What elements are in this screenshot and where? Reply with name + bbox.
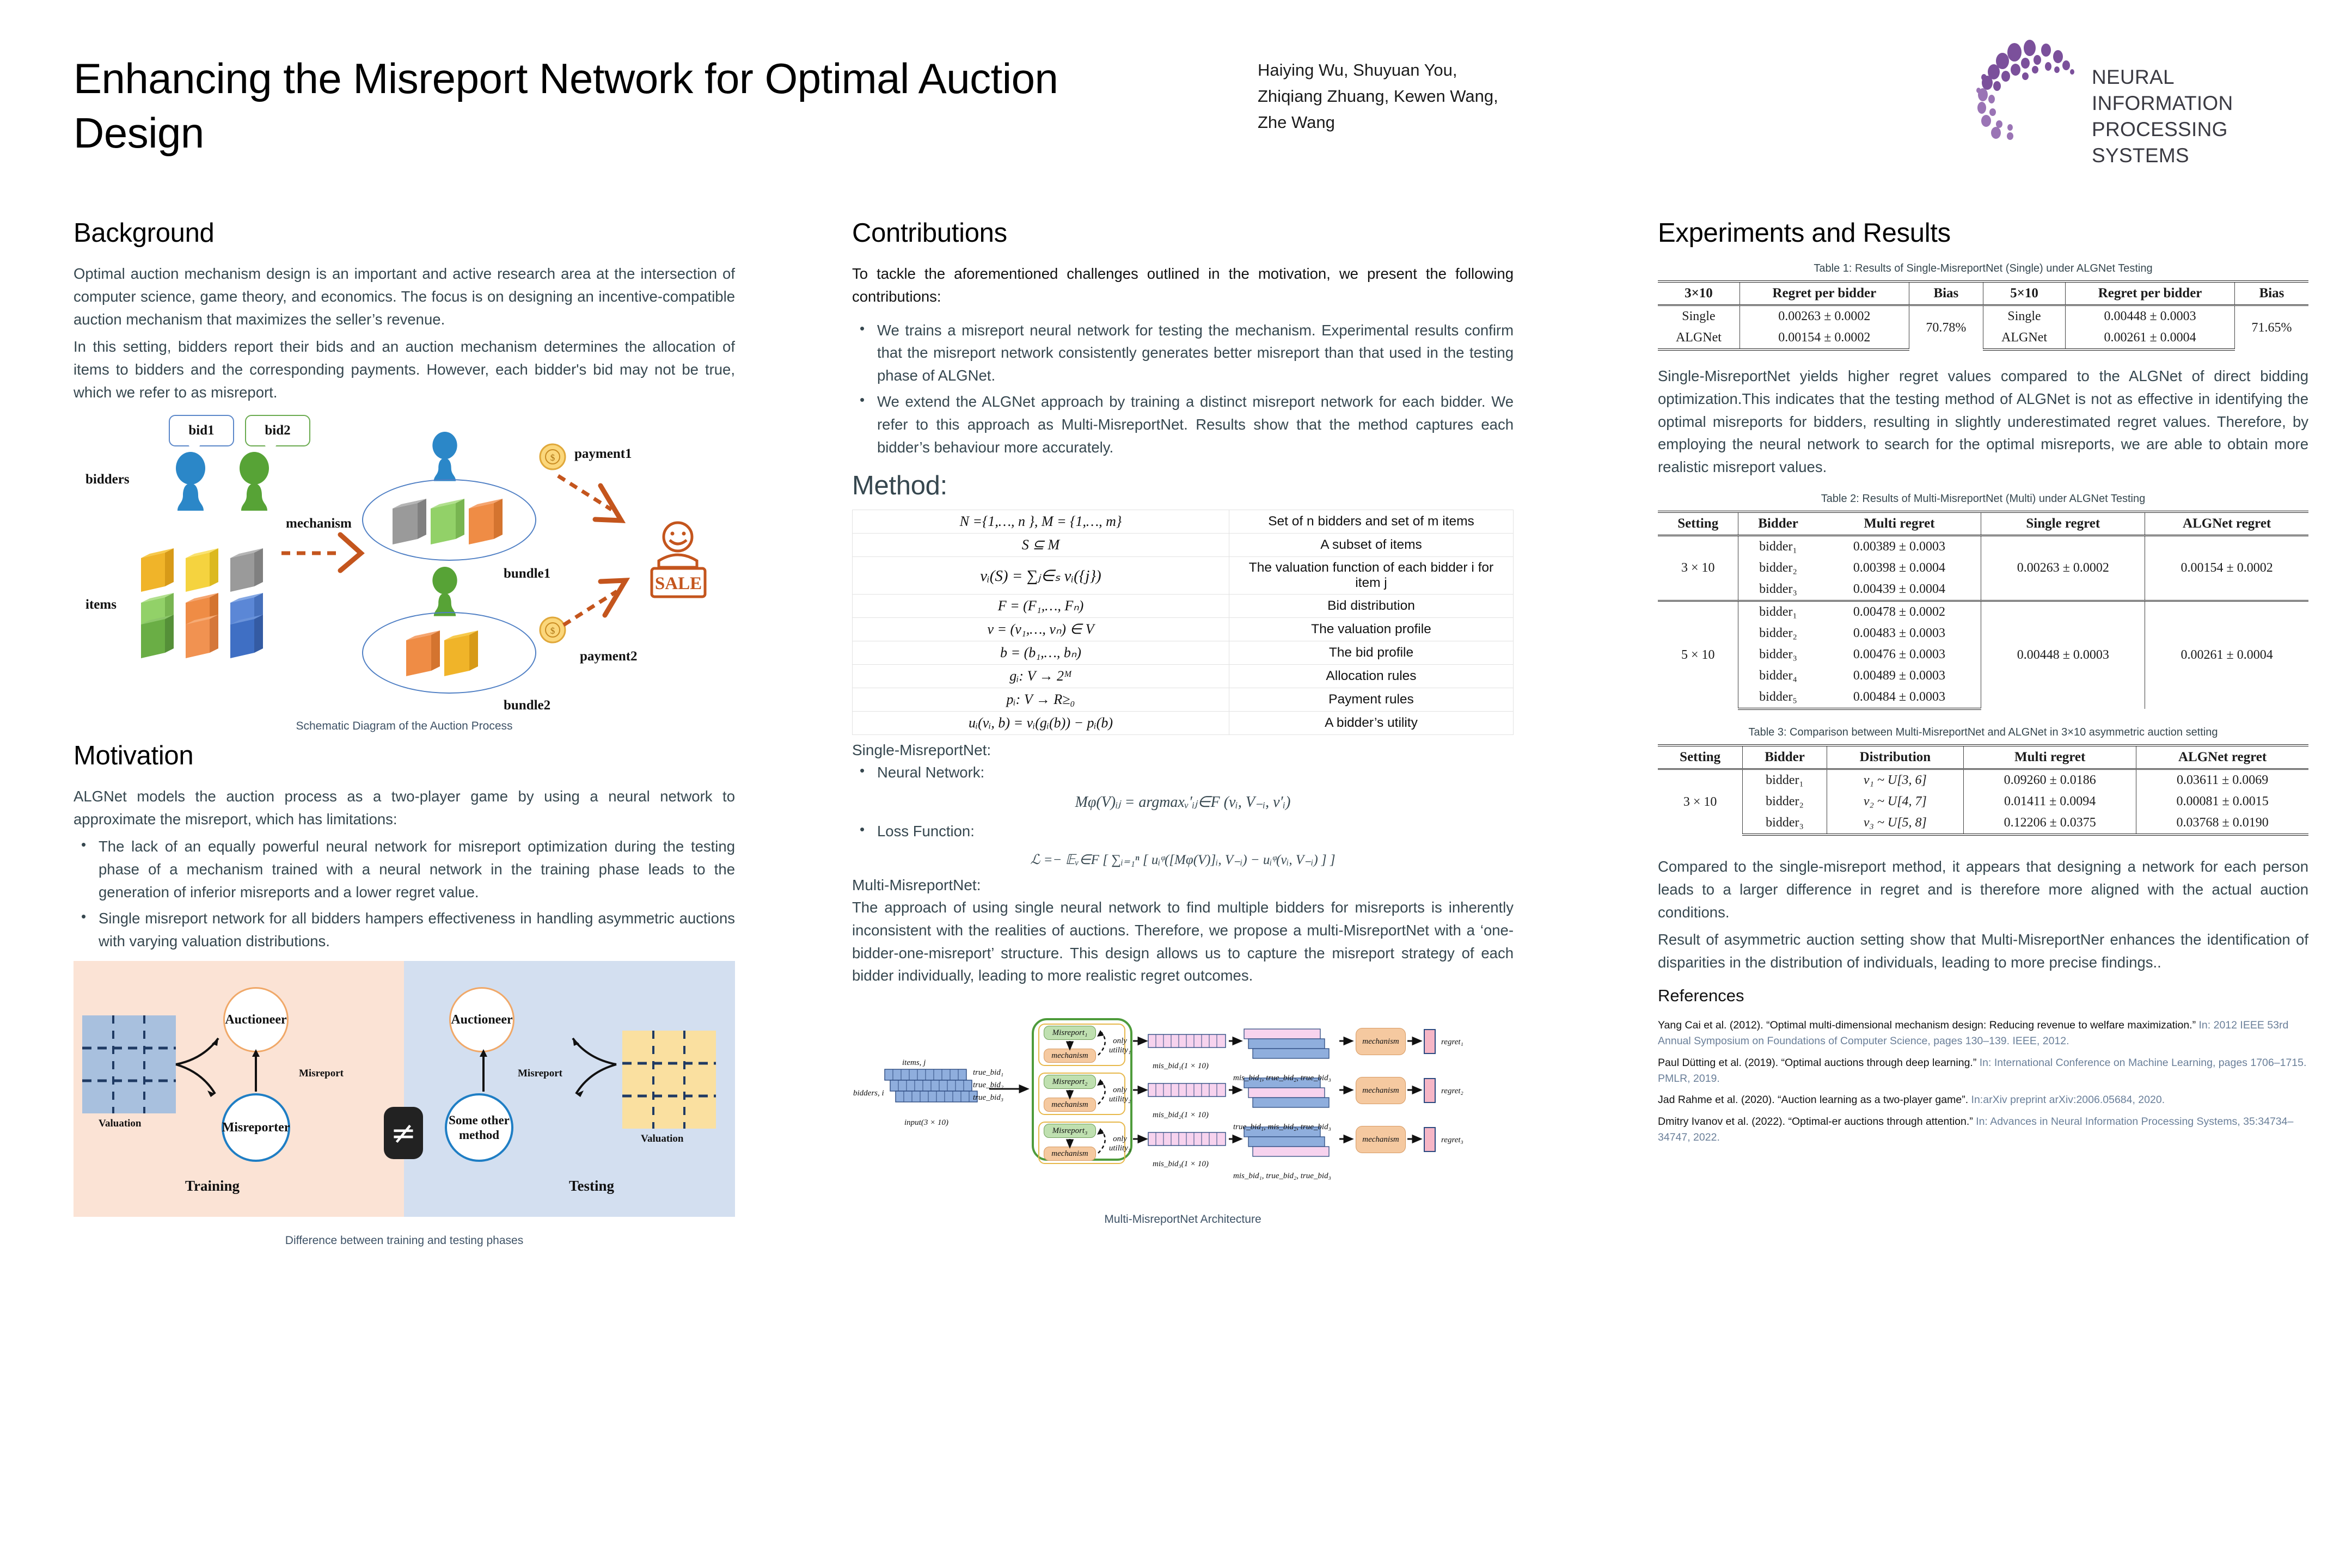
multi-regret-value: 0.00484 ± 0.0003 xyxy=(1818,687,1981,709)
table-row: gᵢ: V → 2ᴹ Allocation rules xyxy=(853,665,1514,688)
table-row: pᵢ: V → R≥₀ Payment rules xyxy=(853,688,1514,712)
setting-value: 3 × 10 xyxy=(1658,535,1738,601)
svg-text:$: $ xyxy=(550,452,555,463)
only-utility3-label: only utility₃ xyxy=(1104,1135,1136,1153)
col-5x10: 5×10 xyxy=(1983,281,2065,305)
table-row: N ={1,…, n }, M = {1,…, m} Set of n bidd… xyxy=(853,510,1514,534)
bidder-name: bidder₃ xyxy=(1743,812,1827,835)
multi-misreportnet-text: The approach of using single neural netw… xyxy=(852,896,1514,987)
only-utility2-label: only utility₂ xyxy=(1104,1086,1136,1104)
valuation-grid-training-icon xyxy=(82,1015,176,1113)
table-row: vᵢ(S) = ∑ⱼ∈ₛ vᵢ({j}) The valuation funct… xyxy=(853,557,1514,595)
reference-item: Paul Dütting et al. (2019). “Optimal auc… xyxy=(1658,1055,2308,1087)
regret3-label: regret₃ xyxy=(1441,1136,1463,1145)
table-row: uᵢ(vᵢ, b) = vᵢ(gᵢ(b)) − pᵢ(b) A bidder’s… xyxy=(853,712,1514,735)
regret-value: 0.00263 ± 0.0002 xyxy=(1739,305,1909,328)
multi-regret-value: 0.00389 ± 0.0003 xyxy=(1818,535,1981,558)
table-row: 3 × 10 bidder₁ 0.00389 ± 0.0003 0.00263 … xyxy=(1658,535,2308,558)
algnet-regret-value: 0.00081 ± 0.0015 xyxy=(2136,791,2308,812)
winner1-icon xyxy=(422,431,468,483)
table-row: Single 0.00263 ± 0.0002 70.78% Single 0.… xyxy=(1658,305,2308,328)
mechanism-arrow-icon xyxy=(279,530,366,574)
algnet-regret-value: 0.03611 ± 0.0069 xyxy=(2136,769,2308,791)
items-grid-icon xyxy=(138,543,274,660)
single-misreportnet-list: Neural Network: xyxy=(852,761,1514,784)
loss-function-label: Loss Function: xyxy=(852,820,1514,843)
multi-regret-value: 0.00476 ± 0.0003 xyxy=(1818,644,1981,665)
notation-symbol: b = (b₁,…, bₙ) xyxy=(853,641,1229,665)
combined-bids-icon xyxy=(1239,1025,1337,1177)
reference-item: Yang Cai et al. (2012). “Optimal multi-d… xyxy=(1658,1018,2308,1049)
bidder-name: bidder₁ xyxy=(1743,769,1827,791)
reference-title: Jad Rahme et al. (2020). “Auction learni… xyxy=(1658,1094,1971,1106)
table-row: ALGNet 0.00154 ± 0.0002 ALGNet 0.00261 ±… xyxy=(1658,327,2308,350)
training-caption: Training xyxy=(185,1178,240,1195)
motivation-heading: Motivation xyxy=(73,740,735,771)
page-title: Enhancing the Misreport Network for Opti… xyxy=(73,52,1108,161)
bidder-name: bidder₁ xyxy=(1738,601,1818,623)
notation-symbol: S ⊆ M xyxy=(853,534,1229,557)
distribution-value: v₃ ~ U[5, 8] xyxy=(1827,812,1963,835)
regret1-label: regret₁ xyxy=(1441,1038,1463,1047)
table-row: F = (F₁,…, Fₙ) Bid distribution xyxy=(853,595,1514,618)
bidder-name: bidder₃ xyxy=(1738,644,1818,665)
author-list: Haiying Wu, Shuyuan You, Zhiqiang Zhuang… xyxy=(1258,57,1595,136)
contributions-intro: To tackle the aforementioned challenges … xyxy=(852,262,1514,308)
misreport2-box: Misreport₂ xyxy=(1044,1075,1096,1089)
multi-regret-value: 0.00439 ± 0.0004 xyxy=(1818,579,1981,601)
list-item: The lack of an equally powerful neural n… xyxy=(73,835,735,903)
multi-regret-value: 0.00483 ± 0.0003 xyxy=(1818,623,1981,644)
author-line-3: Zhe Wang xyxy=(1258,109,1595,136)
method-heading: Method: xyxy=(852,470,1514,501)
notation-desc: Allocation rules xyxy=(1229,665,1513,688)
bidder-name: bidder₅ xyxy=(1738,687,1818,709)
bias-value-left: 70.78% xyxy=(1909,305,1983,350)
training-testing-figure: Valuation Auctioneer Misreporter Misrepo… xyxy=(73,961,735,1249)
bundle2-label: bundle2 xyxy=(504,698,550,713)
combo2-label: true_bid₁, mis_bid₂, true_bid₃ xyxy=(1233,1123,1331,1132)
table-row: 3 × 10 bidder₁ v₁ ~ U[3, 6] 0.09260 ± 0.… xyxy=(1658,769,2308,791)
input-stack-icon xyxy=(880,1068,984,1111)
table-row: bidder₂ v₂ ~ U[4, 7] 0.01411 ± 0.0094 0.… xyxy=(1658,791,2308,812)
table-row: S ⊆ M A subset of items xyxy=(853,534,1514,557)
regret1-box xyxy=(1424,1029,1436,1054)
multi-regret-value: 0.00398 ± 0.0004 xyxy=(1818,558,1981,579)
notation-symbol: pᵢ: V → R≥₀ xyxy=(853,688,1229,712)
background-heading: Background xyxy=(73,218,735,248)
valuation-label-training: Valuation xyxy=(99,1118,142,1130)
regret2-label: regret₂ xyxy=(1441,1087,1463,1096)
table-row: 5 × 10 bidder₁ 0.00478 ± 0.0002 0.00448 … xyxy=(1658,601,2308,623)
input-shape-label: input(3 × 10) xyxy=(904,1118,948,1128)
misreport1-box: Misreport₁ xyxy=(1044,1026,1096,1040)
col-single-regret: Single regret xyxy=(1981,512,2145,536)
contributions-bullet-list: We trains a misreport neural network for… xyxy=(852,319,1514,459)
notation-table: N ={1,…, n }, M = {1,…, m} Set of n bidd… xyxy=(852,510,1514,735)
author-line-2: Zhiqiang Zhuang, Kewen Wang, xyxy=(1258,83,1595,109)
reference-title: Dmitry Ivanov et al. (2022). “Optimal-er… xyxy=(1658,1116,1976,1128)
true-bid2-label: true_bid₂ xyxy=(973,1081,1003,1090)
multi-regret-value: 0.09260 ± 0.0186 xyxy=(1964,769,2136,791)
notation-desc: The valuation profile xyxy=(1229,618,1513,641)
multi-regret-value: 0.01411 ± 0.0094 xyxy=(1964,791,2136,812)
notation-symbol: gᵢ: V → 2ᴹ xyxy=(853,665,1229,688)
only-utility1-label: only utility₁ xyxy=(1104,1037,1136,1055)
col-bidder: Bidder xyxy=(1743,745,1827,769)
bias-value-right: 71.65% xyxy=(2235,305,2309,350)
regret-value: 0.00154 ± 0.0002 xyxy=(1739,327,1909,350)
sale-text: SALE xyxy=(655,574,702,593)
col-bias-left: Bias xyxy=(1909,281,1983,305)
single-regret-value: 0.00448 ± 0.0003 xyxy=(1981,601,2145,709)
items-axis-label: items, j xyxy=(902,1058,926,1068)
mechanism-box-2: mechanism xyxy=(1044,1098,1096,1112)
payment2-arrow-icon xyxy=(558,573,645,633)
author-line-1: Haiying Wu, Shuyuan You, xyxy=(1258,57,1595,83)
algnet-regret-value: 0.03768 ± 0.0190 xyxy=(2136,812,2308,835)
col-algnet-regret: ALGNet regret xyxy=(2145,512,2308,536)
notation-symbol: F = (F₁,…, Fₙ) xyxy=(853,595,1229,618)
mis-bid3-label: mis_bid₃(1 × 10) xyxy=(1153,1160,1209,1169)
table3-caption: Table 3: Comparison between Multi-Misrep… xyxy=(1658,726,2308,739)
bidder1-icon xyxy=(163,452,218,513)
multi-misreportnet-title: Multi-MisreportNet: xyxy=(852,877,1514,894)
misbid-bars-icon xyxy=(1146,1025,1228,1172)
setting-value: 5 × 10 xyxy=(1658,601,1738,709)
list-item: Single misreport network for all bidders… xyxy=(73,907,735,953)
mis-bid2-label: mis_bid₂(1 × 10) xyxy=(1153,1111,1209,1120)
col-multi-regret: Multi regret xyxy=(1818,512,1981,536)
notation-desc: The valuation function of each bidder i … xyxy=(1229,557,1513,595)
coin1-icon: $ xyxy=(539,443,566,470)
references-heading: References xyxy=(1658,986,2308,1006)
payment1-arrow-icon xyxy=(553,470,640,530)
regret-value-2: 0.00261 ± 0.0004 xyxy=(2066,327,2235,350)
bundle1-items-icon xyxy=(389,497,509,548)
logo-line-2: PROCESSING SYSTEMS xyxy=(2092,117,2319,169)
method-name-2: Single xyxy=(1983,305,2065,328)
items-label: items xyxy=(85,597,117,612)
auction-schematic-figure: bid1 bid2 bidders items xyxy=(73,409,735,736)
experiments-paragraph-1: Single-MisreportNet yields higher regret… xyxy=(1658,365,2308,479)
mechanism-box-3: mechanism xyxy=(1044,1147,1096,1161)
neurips-logo: NEURAL INFORMATION PROCESSING SYSTEMS xyxy=(1971,38,2319,142)
reference-title: Paul Dütting et al. (2019). “Optimal auc… xyxy=(1658,1057,1980,1069)
col-3x10: 3×10 xyxy=(1658,281,1739,305)
neurips-logo-icon xyxy=(1971,38,2085,142)
notation-desc: A bidder’s utility xyxy=(1229,712,1513,735)
loss-function-formula: ℒ =− 𝔼ᵥ∈F [ ∑ᵢ₌₁ⁿ [ uᵢᵠ([Mφ(V)]ᵢ, V₋ᵢ) −… xyxy=(852,852,1514,868)
testing-arrows-icon xyxy=(474,1004,626,1146)
sale-seller-icon: SALE xyxy=(640,518,716,605)
table1-caption: Table 1: Results of Single-MisreportNet … xyxy=(1658,262,2308,275)
bidders-axis-label: bidders, i xyxy=(853,1089,884,1098)
combo1-label: mis_bid₁, true_bid₂, true_bid₃ xyxy=(1233,1074,1331,1083)
col-regret-right: Regret per bidder xyxy=(2066,281,2235,305)
table-row: bidder₃ v₃ ~ U[5, 8] 0.12206 ± 0.0375 0.… xyxy=(1658,812,2308,835)
regret-value-2: 0.00448 ± 0.0003 xyxy=(2066,305,2235,328)
table-row: v = (v₁,…, vₙ) ∈ V The valuation profile xyxy=(853,618,1514,641)
notation-symbol: N ={1,…, n }, M = {1,…, m} xyxy=(853,510,1229,534)
bidder-name: bidder₂ xyxy=(1738,558,1818,579)
auction-figure-caption: Schematic Diagram of the Auction Process xyxy=(73,720,735,733)
reference-item: Dmitry Ivanov et al. (2022). “Optimal-er… xyxy=(1658,1114,2308,1146)
method-name: ALGNet xyxy=(1658,327,1739,350)
true-bid1-label: true_bid₁ xyxy=(973,1068,1003,1077)
table1: 3×10 Regret per bidder Bias 5×10 Regret … xyxy=(1658,280,2308,351)
bid2-bubble: bid2 xyxy=(245,415,310,446)
bidder-name: bidder₂ xyxy=(1743,791,1827,812)
not-equal-badge: ≠ xyxy=(384,1107,423,1159)
mechanism-label: mechanism xyxy=(286,516,352,531)
bidder-name: bidder₄ xyxy=(1738,665,1818,687)
table-header-row: Setting Bidder Multi regret Single regre… xyxy=(1658,512,2308,536)
background-paragraph-2: In this setting, bidders report their bi… xyxy=(73,335,735,403)
multi-regret-value: 0.00478 ± 0.0002 xyxy=(1818,601,1981,623)
column-middle: Contributions To tackle the aforemention… xyxy=(852,218,1514,1226)
combo3-label: mis_bid₁, true_bid₂, true_bid₃ xyxy=(1233,1172,1331,1181)
loss-function-list: Loss Function: xyxy=(852,820,1514,843)
misreport-label-training: Misreport xyxy=(299,1068,344,1080)
phase-figure-caption: Difference between training and testing … xyxy=(73,1234,735,1247)
bidders-label: bidders xyxy=(85,472,130,487)
neural-network-label: Neural Network: xyxy=(852,761,1514,784)
experiments-paragraph-3: Result of asymmetric auction setting sho… xyxy=(1658,928,2308,974)
distribution-value: v₂ ~ U[4, 7] xyxy=(1827,791,1963,812)
table-header-row: Setting Bidder Distribution Multi regret… xyxy=(1658,745,2308,769)
table2: Setting Bidder Multi regret Single regre… xyxy=(1658,511,2308,710)
setting-value: 3 × 10 xyxy=(1658,769,1743,835)
mis-bid1-label: mis_bid₁(1 × 10) xyxy=(1153,1062,1209,1071)
single-misreportnet-title: Single-MisreportNet: xyxy=(852,742,1514,759)
column-left: Background Optimal auction mechanism des… xyxy=(73,218,735,1249)
col-bias-right: Bias xyxy=(2235,281,2309,305)
table2-caption: Table 2: Results of Multi-MisreportNet (… xyxy=(1658,493,2308,505)
training-arrows-icon xyxy=(171,1004,297,1146)
experiments-heading: Experiments and Results xyxy=(1658,218,2308,248)
neurips-logo-text: NEURAL INFORMATION PROCESSING SYSTEMS xyxy=(2092,64,2319,169)
regret3-box xyxy=(1424,1127,1436,1152)
list-item: We trains a misreport neural network for… xyxy=(852,319,1514,387)
col-regret-left: Regret per bidder xyxy=(1739,281,1909,305)
regret2-box xyxy=(1424,1078,1436,1103)
misreport3-box: Misreport₃ xyxy=(1044,1124,1096,1138)
single-regret-value: 0.00263 ± 0.0002 xyxy=(1981,535,2145,601)
architecture-figure: items, j bidders, i true_bid₁ true_bid₂ … xyxy=(852,992,1514,1226)
notation-symbol: vᵢ(S) = ∑ⱼ∈ₛ vᵢ({j}) xyxy=(853,557,1229,595)
mechanism-out-box-2: mechanism xyxy=(1356,1077,1406,1104)
bidder-name: bidder₃ xyxy=(1738,579,1818,601)
column-right: Experiments and Results Table 1: Results… xyxy=(1658,218,2308,1151)
bidder-name: bidder₁ xyxy=(1738,535,1818,558)
bid1-bubble: bid1 xyxy=(169,415,234,446)
bundle1-label: bundle1 xyxy=(504,566,550,581)
col-algnet-regret: ALGNet regret xyxy=(2136,745,2308,769)
algnet-regret-value: 0.00154 ± 0.0002 xyxy=(2145,535,2308,601)
table3: Setting Bidder Distribution Multi regret… xyxy=(1658,744,2308,836)
col-bidder: Bidder xyxy=(1738,512,1818,536)
testing-caption: Testing xyxy=(569,1178,614,1195)
true-bid3-label: true_bid₃ xyxy=(973,1093,1003,1102)
notation-symbol: v = (v₁,…, vₙ) ∈ V xyxy=(853,618,1229,641)
background-paragraph-1: Optimal auction mechanism design is an i… xyxy=(73,262,735,330)
notation-desc: The bid profile xyxy=(1229,641,1513,665)
bundle2-items-icon xyxy=(403,628,495,680)
reference-title: Yang Cai et al. (2012). “Optimal multi-d… xyxy=(1658,1019,2199,1031)
notation-symbol: uᵢ(vᵢ, b) = vᵢ(gᵢ(b)) − pᵢ(b) xyxy=(853,712,1229,735)
notation-desc: Bid distribution xyxy=(1229,595,1513,618)
table-header-row: 3×10 Regret per bidder Bias 5×10 Regret … xyxy=(1658,281,2308,305)
algnet-regret-value: 0.00261 ± 0.0004 xyxy=(2145,601,2308,709)
notation-desc: A subset of items xyxy=(1229,534,1513,557)
col-multi-regret: Multi regret xyxy=(1964,745,2136,769)
bidder2-icon xyxy=(227,452,281,513)
payment1-label: payment1 xyxy=(574,446,632,462)
contributions-heading: Contributions xyxy=(852,218,1514,248)
reference-venue: In:arXiv preprint arXiv:2006.05684, 2020… xyxy=(1971,1094,2165,1106)
payment2-label: payment2 xyxy=(580,649,638,664)
list-item: We extend the ALGNet approach by trainin… xyxy=(852,390,1514,458)
method-name-2: ALGNet xyxy=(1983,327,2065,350)
table-row: b = (b₁,…, bₙ) The bid profile xyxy=(853,641,1514,665)
col-distribution: Distribution xyxy=(1827,745,1963,769)
svg-text:$: $ xyxy=(550,626,555,636)
mechanism-box-1: mechanism xyxy=(1044,1049,1096,1063)
architecture-figure-caption: Multi-MisreportNet Architecture xyxy=(852,1213,1514,1226)
valuation-label-testing: Valuation xyxy=(641,1133,684,1145)
winner2-icon xyxy=(422,566,468,618)
motivation-bullet-list: The lack of an equally powerful neural n… xyxy=(73,835,735,952)
poster-header: Enhancing the Misreport Network for Opti… xyxy=(0,0,2352,196)
valuation-grid-testing-icon xyxy=(622,1031,716,1129)
motivation-intro: ALGNet models the auction process as a t… xyxy=(73,785,735,831)
notation-desc: Payment rules xyxy=(1229,688,1513,712)
method-name: Single xyxy=(1658,305,1739,328)
mechanism-out-box-1: mechanism xyxy=(1356,1028,1406,1055)
logo-line-1: NEURAL INFORMATION xyxy=(2092,64,2319,117)
col-setting: Setting xyxy=(1658,512,1738,536)
notation-desc: Set of n bidders and set of m items xyxy=(1229,510,1513,534)
bidder-name: bidder₂ xyxy=(1738,623,1818,644)
reference-item: Jad Rahme et al. (2020). “Auction learni… xyxy=(1658,1092,2308,1108)
distribution-value: v₁ ~ U[3, 6] xyxy=(1827,769,1963,791)
multi-regret-value: 0.00489 ± 0.0003 xyxy=(1818,665,1981,687)
mechanism-out-box-3: mechanism xyxy=(1356,1126,1406,1153)
col-setting: Setting xyxy=(1658,745,1743,769)
multi-regret-value: 0.12206 ± 0.0375 xyxy=(1964,812,2136,835)
experiments-paragraph-2: Compared to the single-misreport method,… xyxy=(1658,855,2308,923)
neural-network-formula: Mφ(V)ᵢⱼ = argmaxᵥ′ᵢⱼ∈F (vᵢ, V₋ᵢ, v′ᵢ) xyxy=(852,793,1514,811)
